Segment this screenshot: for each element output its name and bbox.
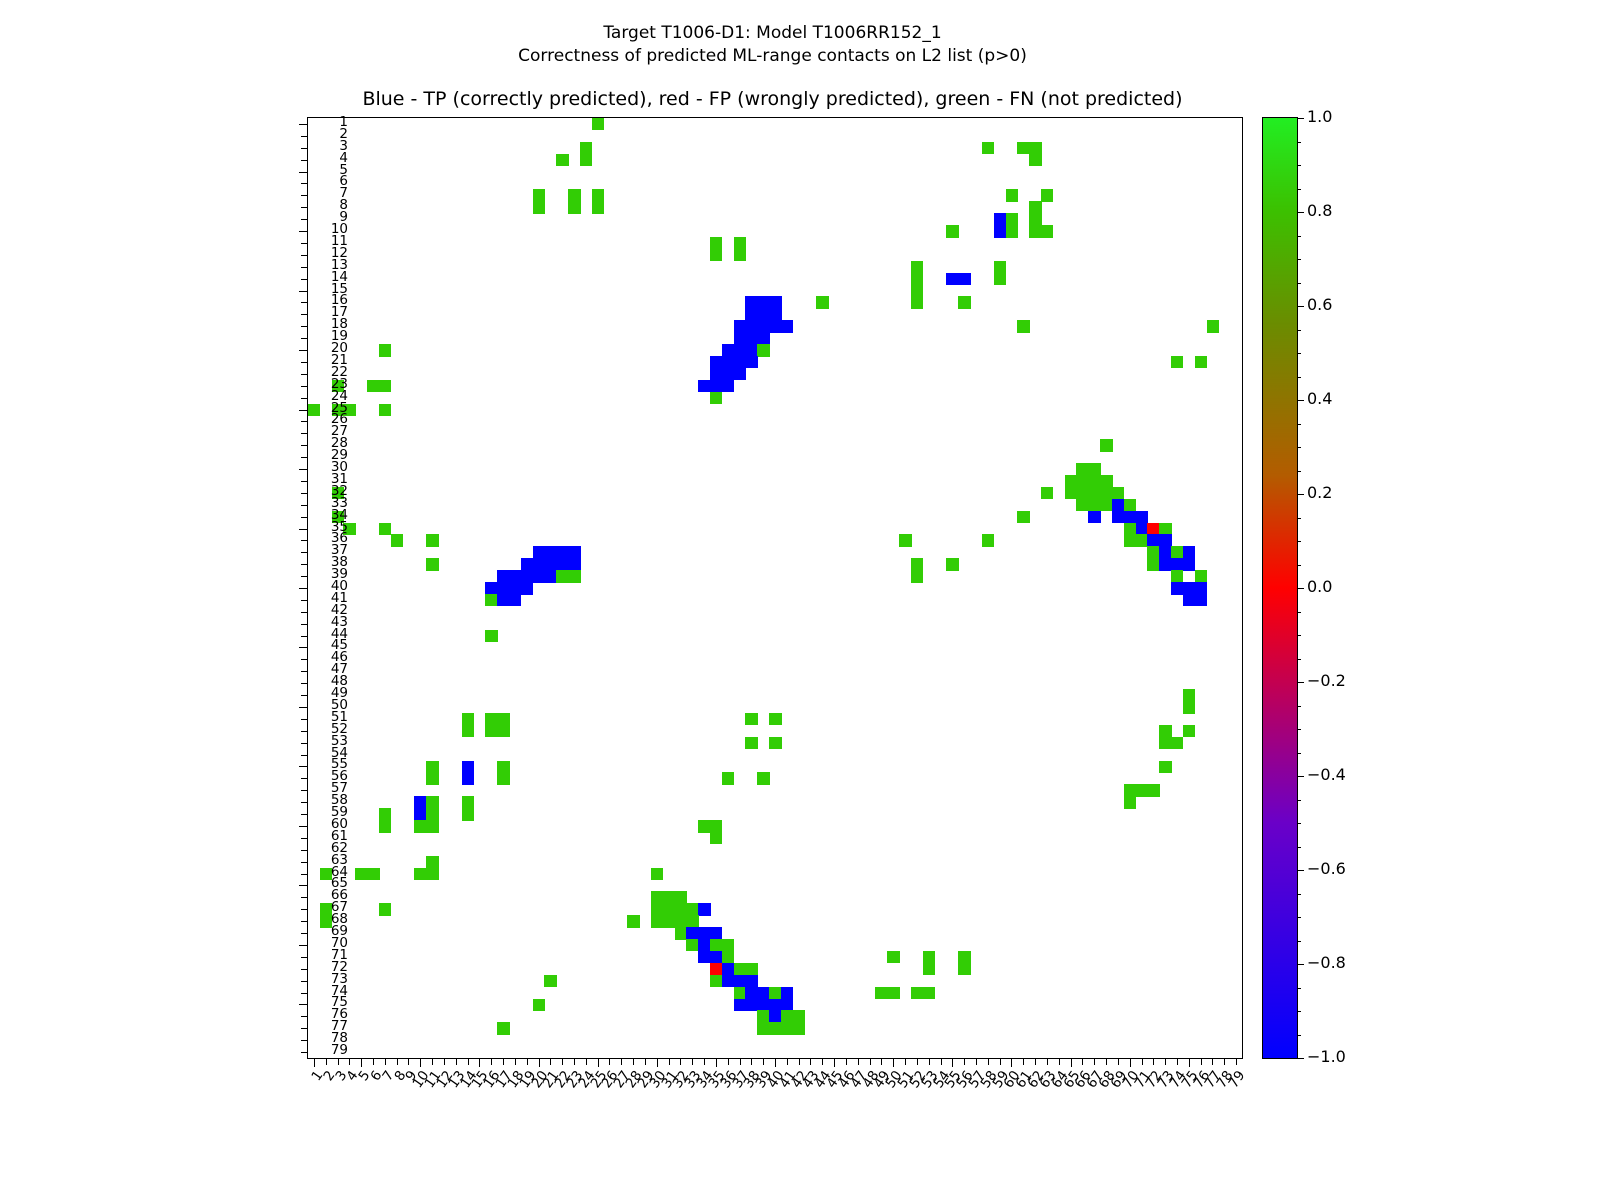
- contact-cell: [911, 273, 923, 285]
- contact-cell: [1171, 356, 1183, 368]
- y-tick: [299, 588, 308, 589]
- contact-cell: [1088, 463, 1100, 475]
- x-tick: [822, 1058, 823, 1065]
- contact-cell: [462, 761, 474, 773]
- contact-cell: [698, 903, 710, 915]
- contact-cell: [710, 249, 722, 261]
- colorbar-minor-tick: [1297, 823, 1301, 824]
- colorbar-minor-tick: [1297, 259, 1301, 260]
- contact-cell: [663, 915, 675, 927]
- y-tick: [301, 802, 308, 803]
- contact-cell: [1088, 475, 1100, 487]
- contact-cell: [509, 594, 521, 606]
- colorbar-tick: [1297, 964, 1304, 965]
- y-tick: [301, 255, 308, 256]
- contact-cell: [1100, 499, 1112, 511]
- contact-cell: [355, 868, 367, 880]
- contact-cell: [1171, 546, 1183, 558]
- x-tick: [361, 1058, 362, 1067]
- contact-cell: [1136, 784, 1148, 796]
- y-tick: [299, 826, 308, 827]
- x-tick: [598, 1058, 599, 1067]
- colorbar-minor-tick: [1297, 1035, 1301, 1036]
- contact-cell: [757, 772, 769, 784]
- contact-cell: [509, 570, 521, 582]
- y-tick: [301, 493, 308, 494]
- contact-cell: [521, 582, 533, 594]
- colorbar-tick-label: 0.0: [1307, 579, 1332, 595]
- contact-cell: [710, 380, 722, 392]
- y-tick: [301, 909, 308, 910]
- contact-cell: [462, 796, 474, 808]
- contact-cell: [710, 356, 722, 368]
- contact-cell: [1112, 511, 1124, 523]
- contact-cell: [781, 1010, 793, 1022]
- colorbar-tick: [1297, 494, 1304, 495]
- contact-cell: [426, 820, 438, 832]
- contact-cell: [745, 999, 757, 1011]
- contact-cell: [734, 249, 746, 261]
- contact-cell: [497, 594, 509, 606]
- contact-cell: [533, 546, 545, 558]
- contact-cell: [686, 939, 698, 951]
- colorbar-tick-label: 0.2: [1307, 485, 1332, 501]
- contact-cell: [1076, 475, 1088, 487]
- y-tick: [301, 683, 308, 684]
- x-tick: [503, 1058, 504, 1065]
- x-tick: [456, 1058, 457, 1065]
- y-tick: [301, 338, 308, 339]
- x-tick: [338, 1058, 339, 1065]
- y-tick: [301, 267, 308, 268]
- contact-cell: [745, 308, 757, 320]
- x-tick: [751, 1058, 752, 1065]
- x-tick: [787, 1058, 788, 1065]
- contact-cell: [887, 951, 899, 963]
- contact-cell: [757, 987, 769, 999]
- y-tick: [301, 659, 308, 660]
- contact-cell: [497, 725, 509, 737]
- contact-cell: [426, 761, 438, 773]
- contact-cell: [958, 296, 970, 308]
- contact-cell: [1136, 523, 1148, 535]
- contact-cell: [544, 558, 556, 570]
- contact-cell: [1017, 511, 1029, 523]
- contact-cell: [769, 320, 781, 332]
- contact-cell: [757, 320, 769, 332]
- x-tick: [527, 1058, 528, 1065]
- contact-cell: [663, 891, 675, 903]
- x-tick: [775, 1058, 776, 1067]
- contact-cell: [426, 796, 438, 808]
- contact-cell: [580, 154, 592, 166]
- contact-cell: [663, 903, 675, 915]
- contact-cell: [379, 404, 391, 416]
- y-tick: [301, 457, 308, 458]
- colorbar-minor-tick: [1297, 424, 1301, 425]
- x-tick: [657, 1058, 658, 1067]
- contact-cell: [734, 963, 746, 975]
- figure-suptitle: Target T1006-D1: Model T1006RR152_1 Corr…: [0, 22, 1545, 68]
- x-tick: [633, 1058, 634, 1065]
- contact-cell: [497, 570, 509, 582]
- colorbar-minor-tick: [1297, 753, 1301, 754]
- contact-cell: [497, 761, 509, 773]
- contact-cell: [426, 534, 438, 546]
- y-tick: [299, 231, 308, 232]
- colorbar-tick-label: 1.0: [1307, 109, 1332, 125]
- x-tick: [432, 1058, 433, 1065]
- contact-cell: [1183, 558, 1195, 570]
- contact-cell: [1195, 570, 1207, 582]
- contact-cell: [1207, 320, 1219, 332]
- contact-cell: [781, 320, 793, 332]
- contact-cell: [1147, 523, 1159, 535]
- y-tick: [299, 707, 308, 708]
- y-tick: [301, 136, 308, 137]
- contact-map-cells: [308, 118, 1242, 1058]
- contact-cell: [1017, 320, 1029, 332]
- x-tick: [834, 1058, 835, 1067]
- x-tick: [1035, 1058, 1036, 1065]
- contact-cell: [426, 772, 438, 784]
- y-tick: [301, 814, 308, 815]
- contact-cell: [769, 987, 781, 999]
- contact-cell: [675, 915, 687, 927]
- x-tick: [1224, 1058, 1225, 1065]
- contact-cell: [710, 963, 722, 975]
- y-tick: [299, 885, 308, 886]
- y-tick: [301, 636, 308, 637]
- contact-cell: [757, 308, 769, 320]
- colorbar-minor-tick: [1297, 165, 1301, 166]
- colorbar-minor-tick: [1297, 142, 1301, 143]
- contact-cell: [556, 570, 568, 582]
- contact-cell: [1100, 487, 1112, 499]
- colorbar-minor-tick: [1297, 189, 1301, 190]
- contact-cell: [994, 225, 1006, 237]
- colorbar-tick: [1297, 400, 1304, 401]
- y-tick: [301, 195, 308, 196]
- contact-cell: [580, 142, 592, 154]
- y-tick: [301, 564, 308, 565]
- colorbar-minor-tick: [1297, 729, 1301, 730]
- contact-cell: [923, 951, 935, 963]
- x-tick: [1071, 1058, 1072, 1067]
- contact-cell: [1195, 582, 1207, 594]
- contact-cell: [544, 546, 556, 558]
- colorbar-minor-tick: [1297, 847, 1301, 848]
- x-tick: [704, 1058, 705, 1065]
- y-tick: [299, 945, 308, 946]
- contact-map-plot: [307, 117, 1243, 1059]
- contact-cell: [769, 296, 781, 308]
- contact-cell: [734, 344, 746, 356]
- contact-cell: [698, 951, 710, 963]
- contact-cell: [757, 296, 769, 308]
- x-tick: [799, 1058, 800, 1065]
- contact-cell: [1065, 475, 1077, 487]
- colorbar-minor-tick: [1297, 917, 1301, 918]
- contact-cell: [745, 713, 757, 725]
- contact-cell: [698, 927, 710, 939]
- contact-cell: [308, 404, 320, 416]
- contact-cell: [533, 558, 545, 570]
- contact-cell: [816, 296, 828, 308]
- x-tick: [740, 1058, 741, 1065]
- contact-cell: [1041, 225, 1053, 237]
- contact-cell: [769, 1022, 781, 1034]
- contact-cell: [379, 344, 391, 356]
- contact-cell: [1171, 582, 1183, 594]
- contact-cell: [1183, 582, 1195, 594]
- x-tick: [314, 1058, 315, 1067]
- contact-cell: [734, 320, 746, 332]
- y-tick: [301, 326, 308, 327]
- contact-cell: [722, 344, 734, 356]
- y-tick: [301, 1016, 308, 1017]
- colorbar-tick-label: −0.2: [1307, 673, 1346, 689]
- contact-cell: [592, 118, 604, 130]
- contact-cell: [414, 820, 426, 832]
- contact-cell: [769, 999, 781, 1011]
- contact-cell: [1171, 737, 1183, 749]
- y-tick: [301, 576, 308, 577]
- contact-cell: [923, 987, 935, 999]
- x-tick: [976, 1058, 977, 1065]
- contact-cell: [568, 189, 580, 201]
- contact-cell: [781, 999, 793, 1011]
- colorbar-minor-tick: [1297, 330, 1301, 331]
- contact-cell: [1147, 784, 1159, 796]
- x-tick: [349, 1058, 350, 1065]
- contact-cell: [1159, 725, 1171, 737]
- contact-cell: [1124, 511, 1136, 523]
- contact-cell: [722, 951, 734, 963]
- y-tick: [301, 921, 308, 922]
- x-tick: [870, 1058, 871, 1065]
- y-tick: [299, 350, 308, 351]
- x-tick: [420, 1058, 421, 1067]
- colorbar-tick: [1297, 588, 1304, 589]
- contact-cell: [745, 332, 757, 344]
- contact-cell: [556, 154, 568, 166]
- y-tick: [301, 671, 308, 672]
- contact-cell: [509, 582, 521, 594]
- contact-cell: [745, 320, 757, 332]
- contact-cell: [722, 939, 734, 951]
- contact-cell: [414, 796, 426, 808]
- x-tick: [881, 1058, 882, 1065]
- contact-cell: [1136, 534, 1148, 546]
- y-tick: [301, 933, 308, 934]
- y-tick-label: 79: [331, 1044, 348, 1058]
- x-tick: [846, 1058, 847, 1065]
- contact-cell: [722, 368, 734, 380]
- contact-cell: [734, 987, 746, 999]
- contact-cell: [686, 915, 698, 927]
- contact-cell: [710, 820, 722, 832]
- contact-cell: [745, 963, 757, 975]
- y-tick: [301, 148, 308, 149]
- y-tick: [299, 647, 308, 648]
- y-tick: [301, 1040, 308, 1041]
- contact-cell: [710, 939, 722, 951]
- y-tick: [301, 445, 308, 446]
- contact-cell: [1195, 594, 1207, 606]
- contact-cell: [533, 999, 545, 1011]
- y-tick: [299, 1004, 308, 1005]
- contact-cell: [793, 1010, 805, 1022]
- x-tick: [397, 1058, 398, 1065]
- contact-cell: [757, 344, 769, 356]
- x-tick: [728, 1058, 729, 1065]
- contact-cell: [426, 868, 438, 880]
- contact-cell: [1029, 225, 1041, 237]
- x-tick: [1236, 1058, 1237, 1065]
- colorbar-minor-tick: [1297, 471, 1301, 472]
- x-tick: [1165, 1058, 1166, 1065]
- colorbar-tick-label: −0.8: [1307, 955, 1346, 971]
- y-tick: [301, 957, 308, 958]
- y-tick: [301, 624, 308, 625]
- contact-cell: [946, 273, 958, 285]
- x-tick: [1106, 1058, 1107, 1065]
- contact-cell: [556, 558, 568, 570]
- contact-cell: [1029, 201, 1041, 213]
- x-tick: [586, 1058, 587, 1065]
- contact-cell: [911, 570, 923, 582]
- colorbar-minor-tick: [1297, 236, 1301, 237]
- colorbar-tick: [1297, 776, 1304, 777]
- colorbar-tick: [1297, 306, 1304, 307]
- contact-cell: [556, 546, 568, 558]
- x-tick: [905, 1058, 906, 1065]
- y-tick: [301, 850, 308, 851]
- contact-cell: [426, 558, 438, 570]
- x-tick: [1118, 1058, 1119, 1065]
- y-tick: [301, 552, 308, 553]
- x-tick: [1212, 1058, 1213, 1065]
- colorbar-minor-tick: [1297, 447, 1301, 448]
- contact-cell: [379, 903, 391, 915]
- y-tick: [301, 838, 308, 839]
- contact-cell: [793, 1022, 805, 1034]
- contact-cell: [686, 927, 698, 939]
- y-tick: [301, 243, 308, 244]
- colorbar-tick: [1297, 1058, 1304, 1059]
- contact-cell: [1006, 189, 1018, 201]
- y-tick: [301, 302, 308, 303]
- contact-cell: [485, 594, 497, 606]
- contact-cell: [1041, 189, 1053, 201]
- contact-cell: [887, 987, 899, 999]
- colorbar-tick-label: 0.6: [1307, 297, 1332, 313]
- contact-cell: [1088, 499, 1100, 511]
- contact-cell: [1159, 534, 1171, 546]
- contact-cell: [379, 820, 391, 832]
- contact-cell: [1029, 154, 1041, 166]
- contact-cell: [521, 570, 533, 582]
- contact-cell: [485, 713, 497, 725]
- contact-cell: [1159, 737, 1171, 749]
- colorbar-tick-label: −0.6: [1307, 861, 1346, 877]
- y-tick: [301, 183, 308, 184]
- contact-cell: [1159, 546, 1171, 558]
- contact-cell: [462, 772, 474, 784]
- y-tick: [301, 398, 308, 399]
- x-tick: [1000, 1058, 1001, 1065]
- colorbar-minor-tick: [1297, 941, 1301, 942]
- x-tick: [1153, 1058, 1154, 1065]
- contact-cell: [1006, 213, 1018, 225]
- contact-cell: [1088, 511, 1100, 523]
- y-tick: [301, 433, 308, 434]
- y-tick: [301, 207, 308, 208]
- y-tick: [301, 981, 308, 982]
- contact-cell: [958, 273, 970, 285]
- y-tick: [301, 160, 308, 161]
- contact-cell: [592, 189, 604, 201]
- contact-cell: [1147, 546, 1159, 558]
- contact-cell: [379, 380, 391, 392]
- contact-cell: [675, 891, 687, 903]
- x-tick: [1201, 1058, 1202, 1065]
- contact-cell: [698, 380, 710, 392]
- colorbar-minor-tick: [1297, 612, 1301, 613]
- contact-cell: [379, 808, 391, 820]
- contact-cell: [1124, 534, 1136, 546]
- y-tick: [299, 469, 308, 470]
- y-tick: [301, 362, 308, 363]
- contact-cell: [426, 856, 438, 868]
- contact-cell: [568, 570, 580, 582]
- contact-cell: [414, 868, 426, 880]
- contact-cell: [367, 868, 379, 880]
- contact-cell: [1029, 142, 1041, 154]
- contact-cell: [568, 558, 580, 570]
- contact-cell: [769, 308, 781, 320]
- y-tick: [299, 410, 308, 411]
- y-tick: [301, 897, 308, 898]
- contact-cell: [544, 975, 556, 987]
- colorbar-tick-label: 0.4: [1307, 391, 1332, 407]
- contact-cell: [911, 987, 923, 999]
- x-tick: [515, 1058, 516, 1065]
- y-tick: [301, 374, 308, 375]
- contact-cell: [1112, 487, 1124, 499]
- colorbar-minor-tick: [1297, 706, 1301, 707]
- contact-cell: [911, 285, 923, 297]
- colorbar-tick: [1297, 870, 1304, 871]
- contact-cell: [745, 737, 757, 749]
- colorbar-gradient: [1263, 118, 1297, 1058]
- x-tick: [810, 1058, 811, 1065]
- colorbar-tick-label: −0.4: [1307, 767, 1346, 783]
- contact-cell: [1183, 594, 1195, 606]
- contact-cell: [958, 951, 970, 963]
- contact-cell: [1112, 499, 1124, 511]
- contact-cell: [651, 891, 663, 903]
- x-tick: [1142, 1058, 1143, 1065]
- contact-cell: [379, 523, 391, 535]
- x-tick: [763, 1058, 764, 1065]
- contact-cell: [722, 975, 734, 987]
- y-tick: [301, 421, 308, 422]
- contact-cell: [1076, 487, 1088, 499]
- contact-cell: [757, 332, 769, 344]
- x-tick: [645, 1058, 646, 1065]
